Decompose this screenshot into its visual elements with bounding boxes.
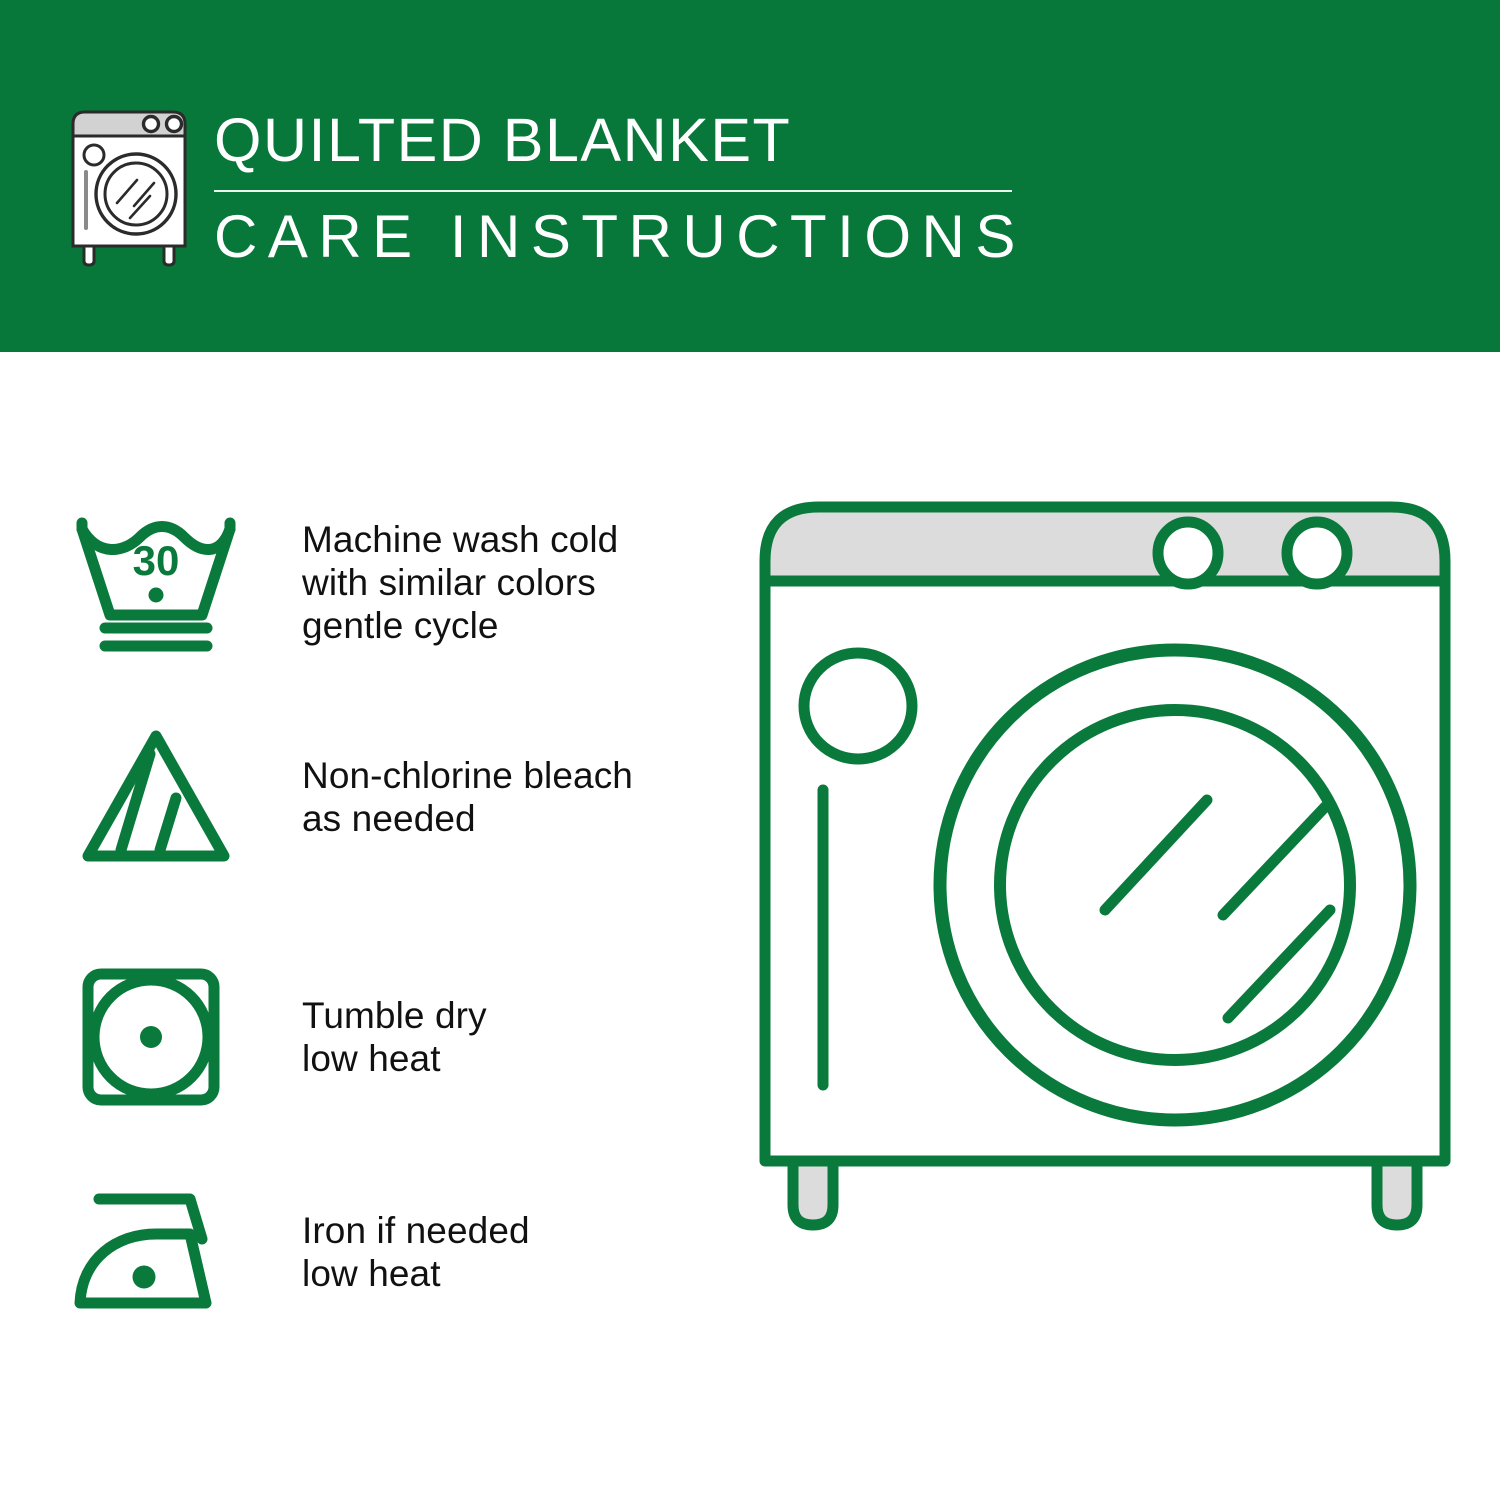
svg-text:30: 30 xyxy=(133,537,180,584)
front-load-washing-machine-illustration xyxy=(745,495,1465,1425)
wash-tub-30-gentle-icon: 30 xyxy=(72,507,240,657)
care-row-machine-wash: 30 Machine wash cold with similar colors… xyxy=(72,507,712,657)
tumble-dry-low-heat-icon xyxy=(72,962,240,1112)
washing-machine-icon xyxy=(64,106,200,268)
care-row-bleach: Non-chlorine bleach as needed xyxy=(72,722,712,872)
non-chlorine-bleach-triangle-icon xyxy=(72,722,240,872)
washer-dispenser xyxy=(804,653,912,759)
iron-low-heat-icon xyxy=(72,1177,240,1327)
header-text-block: QUILTED BLANKET CARE INSTRUCTIONS xyxy=(214,104,1024,272)
title-divider xyxy=(214,190,1012,192)
care-label: Tumble dry low heat xyxy=(302,994,487,1080)
header-banner: QUILTED BLANKET CARE INSTRUCTIONS xyxy=(0,0,1500,352)
page-title: QUILTED BLANKET xyxy=(214,104,1024,176)
page-subtitle: CARE INSTRUCTIONS xyxy=(214,202,1024,272)
washer-drum-inner xyxy=(1000,710,1350,1060)
care-label: Machine wash cold with similar colors ge… xyxy=(302,518,618,647)
washer-knob-2 xyxy=(1287,522,1347,584)
care-row-iron: Iron if needed low heat xyxy=(72,1177,712,1327)
care-instructions-list: 30 Machine wash cold with similar colors… xyxy=(0,352,720,1500)
washer-knob-1 xyxy=(1158,522,1218,584)
care-label: Non-chlorine bleach as needed xyxy=(302,754,633,840)
care-row-tumble-dry: Tumble dry low heat xyxy=(72,962,712,1112)
care-label: Iron if needed low heat xyxy=(302,1209,530,1295)
